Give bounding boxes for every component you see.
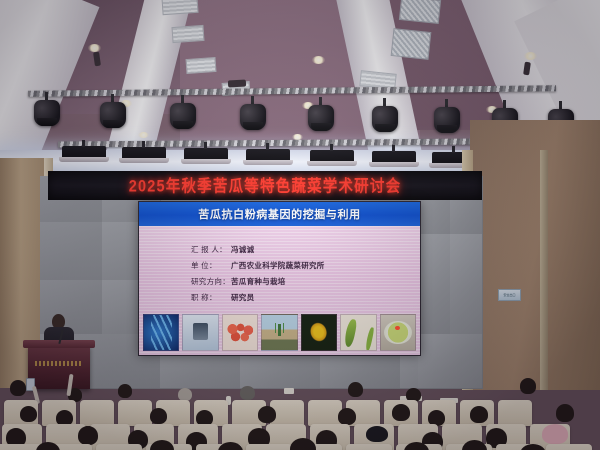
air-vent <box>161 0 198 15</box>
plated-dish-thumb <box>380 314 416 351</box>
downlight <box>524 52 537 60</box>
wall-panel-tile <box>418 234 451 335</box>
attendee-head <box>470 406 488 423</box>
audience-area <box>0 366 600 450</box>
info-value: 研究员 <box>231 292 254 303</box>
attendee-head-cap <box>366 426 388 442</box>
right-wall-trim-2 <box>540 150 548 390</box>
attendee-head <box>258 406 276 423</box>
par-light <box>62 146 106 161</box>
info-value: 广西农业科学院蔬菜研究所 <box>231 260 325 271</box>
attendee-head <box>338 408 356 425</box>
stage-light <box>434 99 460 133</box>
downlight <box>312 56 325 64</box>
attendee-head <box>348 382 363 397</box>
seat <box>308 400 342 426</box>
acoustic-panel-wall-right <box>418 176 482 388</box>
attendee-head <box>556 404 574 422</box>
attendee-head <box>78 426 98 445</box>
stage-light <box>240 96 266 130</box>
attendee-head <box>20 406 37 422</box>
attendee-head <box>392 404 410 421</box>
attendee-head-pink-cap <box>542 424 568 444</box>
presentation-screen: 苦瓜抗白粉病基因的挖掘与利用 汇 报 人： 冯诚诚 单 位： 广西农业科学院蔬菜… <box>138 201 421 356</box>
auditorium-photo: 安全出口 2025年秋季苦瓜等特色蔬菜学术研讨会 苦瓜抗白粉病基因的挖掘与利用 … <box>0 0 600 450</box>
list-item: 单 位： 广西农业科学院蔬菜研究所 <box>191 260 325 271</box>
stage-light <box>308 97 334 131</box>
table-item <box>284 388 294 394</box>
ac-grille <box>399 0 441 24</box>
info-label: 研究方向： <box>191 276 231 287</box>
seedling-thumb <box>261 314 297 351</box>
list-item: 研究方向： 苦瓜育种与栽培 <box>191 276 325 287</box>
dna-helix-thumb <box>143 314 179 351</box>
seat <box>498 400 532 426</box>
air-vent <box>171 25 204 43</box>
seat <box>346 444 392 450</box>
seat <box>118 400 152 426</box>
exit-sign: 安全出口 <box>498 289 521 301</box>
list-item: 汇 报 人： 冯诚诚 <box>191 244 325 255</box>
attendee-head <box>118 384 132 398</box>
red-fruit-thumb <box>222 314 258 351</box>
info-label: 职 称： <box>191 292 231 303</box>
attendee-head <box>150 408 167 424</box>
ac-grille <box>391 28 432 60</box>
seat <box>246 444 292 450</box>
slide-info-list: 汇 报 人： 冯诚诚 单 位： 广西农业科学院蔬菜研究所 研究方向： 苦瓜育种与… <box>191 244 325 303</box>
slide-title-text: 苦瓜抗白粉病基因的挖掘与利用 <box>198 206 360 222</box>
info-label: 单 位： <box>191 260 231 271</box>
lab-equipment-thumb <box>182 314 218 351</box>
slide-title-bar: 苦瓜抗白粉病基因的挖掘与利用 <box>139 202 420 226</box>
attendee-head <box>10 380 26 396</box>
wall-panel-tile <box>40 222 103 281</box>
info-value: 冯诚诚 <box>231 244 254 255</box>
stage-light <box>100 94 126 128</box>
yellow-flower-thumb <box>301 314 337 351</box>
stage-light <box>34 92 60 126</box>
par-light <box>310 150 354 165</box>
stage-light <box>372 98 398 132</box>
info-label: 汇 报 人： <box>191 244 231 255</box>
stage-light <box>170 95 196 129</box>
par-light <box>372 151 416 166</box>
downlight <box>88 44 101 52</box>
air-vent <box>186 57 217 74</box>
downlight <box>138 132 149 138</box>
par-light <box>246 149 290 164</box>
par-light <box>122 147 166 162</box>
list-item: 职 称： 研究员 <box>191 292 325 303</box>
wall-panel-tile <box>450 234 483 335</box>
seat <box>80 400 114 426</box>
right-wood-wall <box>470 120 600 390</box>
attendee-head <box>240 386 255 400</box>
led-banner: 2025年秋季苦瓜等特色蔬菜学术研讨会 <box>48 171 482 200</box>
par-light <box>184 148 228 163</box>
seat <box>96 444 142 450</box>
slide-body: 汇 报 人： 冯诚诚 单 位： 广西农业科学院蔬菜研究所 研究方向： 苦瓜育种与… <box>139 226 420 355</box>
exit-sign-label: 安全出口 <box>503 293 515 297</box>
led-banner-text: 2025年秋季苦瓜等特色蔬菜学术研讨会 <box>129 174 402 198</box>
attendee-head <box>520 378 536 394</box>
slide-thumbnail-strip <box>143 314 416 351</box>
info-value: 苦瓜育种与栽培 <box>231 276 286 287</box>
seat <box>546 444 592 450</box>
ceiling-speaker <box>228 80 246 88</box>
bitter-gourd-thumb <box>340 314 376 351</box>
